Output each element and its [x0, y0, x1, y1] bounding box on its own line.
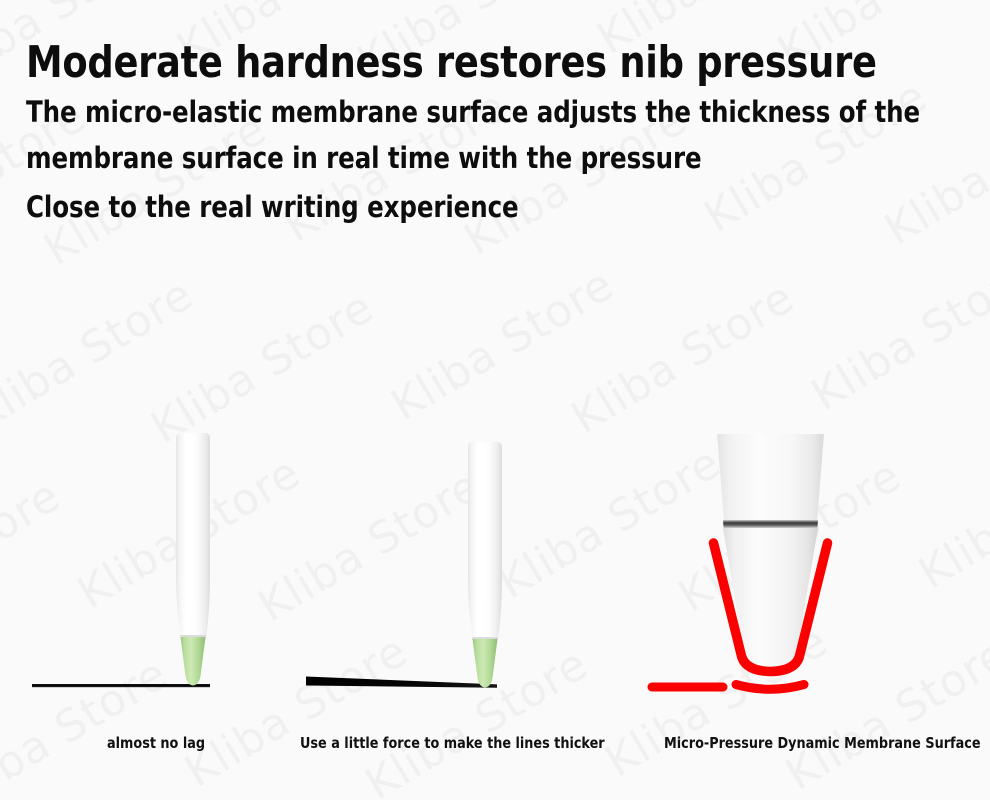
pen-nib-collar — [180, 635, 206, 637]
subtitle-line-3: Close to the real writing experience — [26, 185, 932, 231]
subtitle-line-2: membrane surface in real time with the p… — [26, 136, 932, 182]
stroke-thin-line — [32, 684, 210, 687]
watermark-row: Kliba Store Kliba Store Kliba Store Klib… — [137, 343, 990, 800]
watermark-text: Kliba Store — [985, 265, 990, 431]
watermark-row: Kliba Store Kliba Store Kliba Store Klib… — [244, 521, 990, 800]
pen-nib-collar — [472, 637, 498, 639]
watermark-text: Kliba Store — [912, 431, 990, 597]
page-title: Moderate hardness restores nib pressure — [26, 40, 923, 86]
pen-body-highlight — [477, 444, 485, 636]
watermark-text: Kliba Store — [71, 450, 308, 616]
figure-pen-no-lag — [32, 433, 210, 687]
watermark-row: Kliba Store Kliba Store Kliba Store Klib… — [0, 253, 990, 800]
watermark-text: Kliba Store — [779, 632, 990, 798]
pen-body — [176, 433, 210, 637]
pen-body-highlight — [185, 435, 193, 634]
figure-pen-thicker-line — [306, 442, 502, 688]
watermark-row: Kliba Store Kliba Store Kliba Store Klib… — [30, 164, 990, 800]
pen-nib-green — [473, 639, 498, 688]
watermark-text: Kliba Store — [672, 453, 909, 619]
watermark-text: Kliba Store — [145, 285, 382, 451]
watermark-text: Kliba Store — [805, 252, 990, 418]
watermark-text: Kliba Store — [492, 441, 729, 607]
nib-cone-white — [723, 528, 818, 680]
stroke-wedge-line — [306, 677, 497, 688]
caption-pen-thicker-line: Use a little force to make the lines thi… — [300, 734, 605, 752]
caption-pen-no-lag: almost no lag — [107, 734, 205, 752]
watermark-text: Kliba Store — [0, 272, 201, 438]
watermark-text: Kliba Store — [178, 629, 415, 795]
watermark-text: Kliba Store — [0, 652, 175, 800]
figure-membrane-cross-section — [652, 434, 828, 689]
watermark-text: Kliba Store — [252, 463, 489, 629]
seam-band — [723, 520, 818, 528]
product-infographic: Kliba Store Kliba Store Kliba Store Klib… — [0, 0, 990, 800]
membrane-outline-red — [714, 543, 828, 672]
watermark-text: Kliba Store — [0, 473, 68, 639]
pen-nib-green — [181, 637, 206, 686]
subtitle-line-1: The micro-elastic membrane surface adjus… — [26, 90, 932, 136]
watermark-text: Kliba Store — [359, 642, 596, 800]
watermark-text: Kliba Store — [599, 619, 836, 785]
red-stroke-curved — [736, 685, 804, 690]
barrel-upper-cone — [717, 434, 824, 521]
watermark-text: Kliba Store — [565, 275, 802, 441]
text-block: Moderate hardness restores nib pressure … — [0, 0, 990, 231]
watermark-text: Kliba Store — [385, 262, 622, 428]
pen-body — [468, 442, 502, 639]
caption-membrane-cross-section: Micro-Pressure Dynamic Membrane Surface — [664, 734, 981, 752]
